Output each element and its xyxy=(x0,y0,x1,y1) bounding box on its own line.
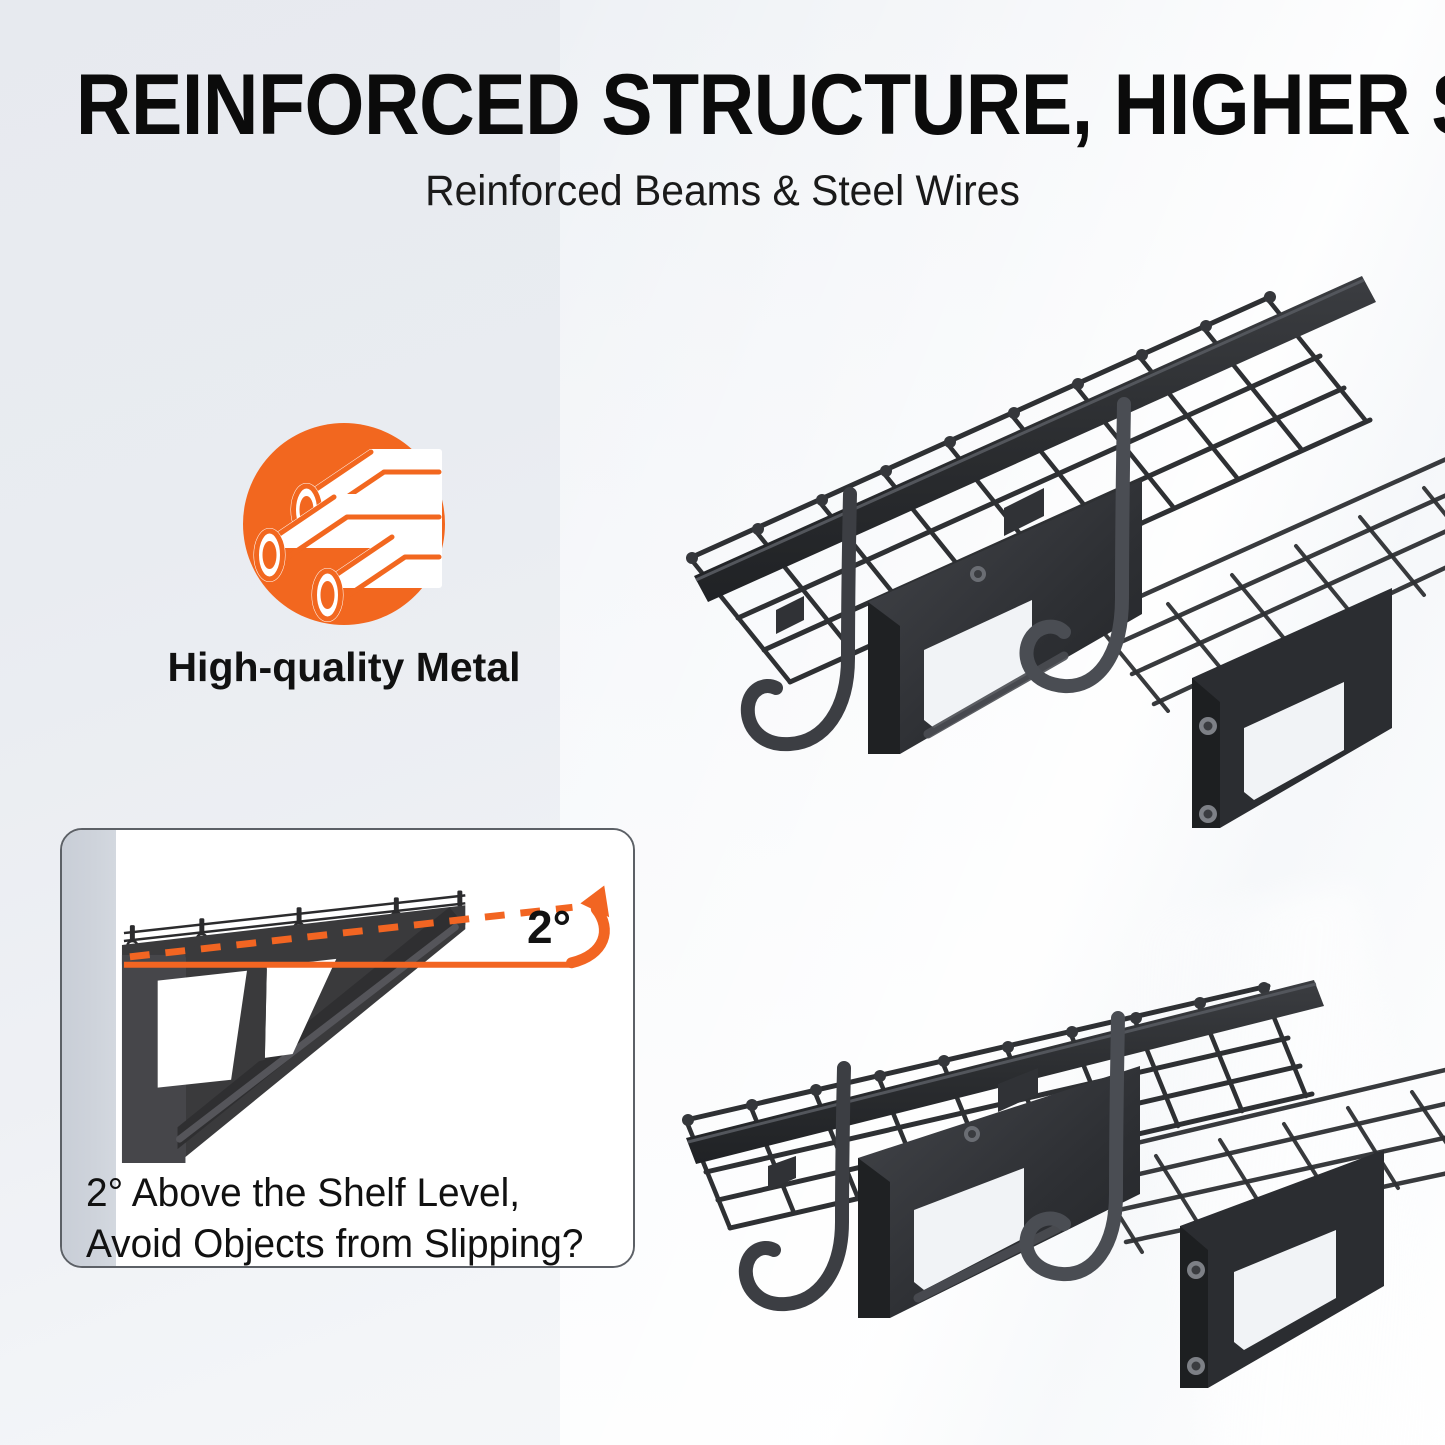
caption-line-1: 2° Above the Shelf Level, xyxy=(86,1168,600,1219)
tilt-angle-label: 2° xyxy=(527,900,571,954)
product-feature-banner: REINFORCED STRUCTURE, HIGHER STABILITY R… xyxy=(0,0,1445,1445)
caption-line-2: Avoid Objects from Slipping? xyxy=(86,1219,600,1270)
wall-highlight xyxy=(1123,885,1445,1445)
page-subtitle: Reinforced Beams & Steel Wires xyxy=(36,166,1409,216)
tilt-diagram-caption: 2° Above the Shelf Level, Avoid Objects … xyxy=(86,1168,600,1270)
metal-pipes-icon xyxy=(243,423,445,625)
product-photo-backdrop xyxy=(560,0,1445,1445)
page-title: REINFORCED STRUCTURE, HIGHER STABILITY xyxy=(76,62,1369,148)
feature-badge-label: High-quality Metal xyxy=(44,643,644,691)
feature-badge-circle xyxy=(243,423,445,625)
